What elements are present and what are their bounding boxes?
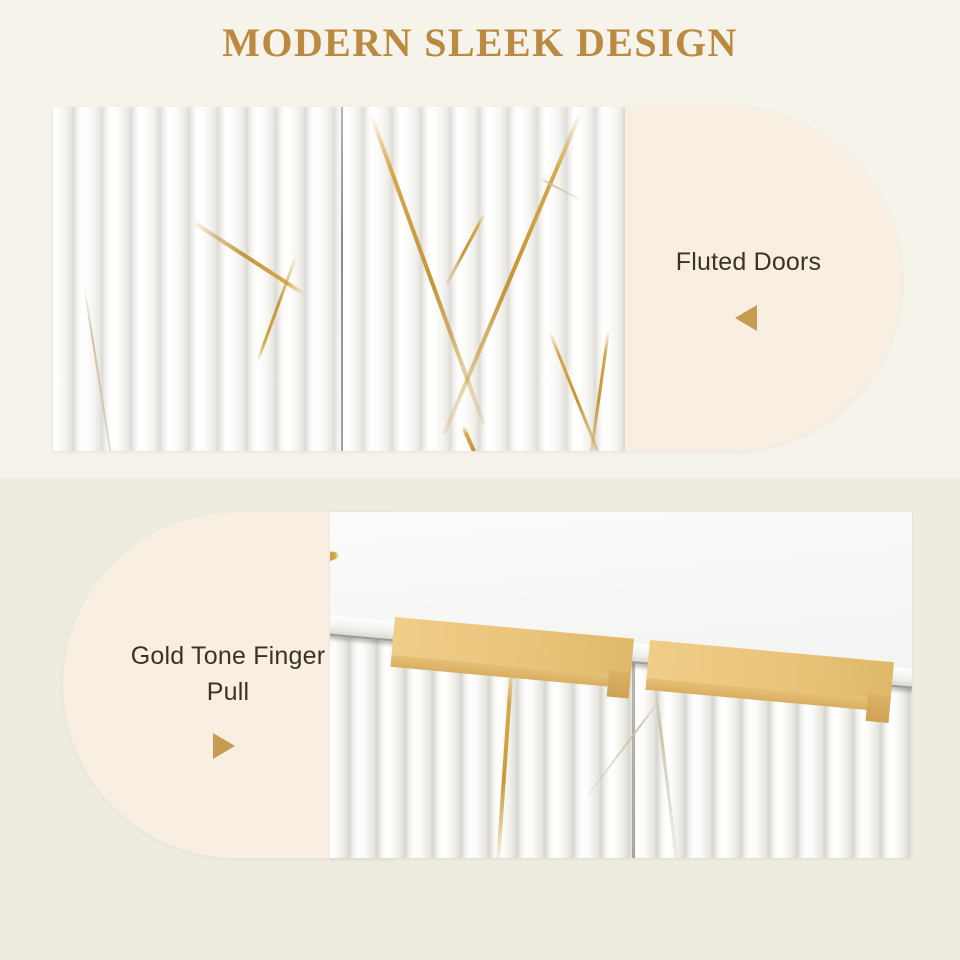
callout-label-line-2: Pull <box>207 678 250 706</box>
cabinet-door-left <box>53 107 341 451</box>
finger-pull-photo <box>330 512 912 858</box>
callout-label-line-1: Gold Tone Finger <box>131 642 326 670</box>
fluted-texture-right <box>343 107 625 451</box>
handle-end-cap-left <box>607 671 631 699</box>
marketing-image-canvas: MODERN SLEEK DESIGN Fluted Doors <box>0 0 960 960</box>
page-title: MODERN SLEEK DESIGN <box>0 21 960 65</box>
fluted-texture-left <box>53 107 341 451</box>
handle-end-cap-right <box>866 694 891 723</box>
triangle-right-icon <box>213 733 235 759</box>
cabinet-door-right <box>343 107 625 451</box>
callout-fluted-doors-label: Fluted Doors <box>625 247 872 277</box>
triangle-left-icon <box>735 305 757 331</box>
callout-gold-finger-pull-label: Gold Tone Finger Pull <box>85 638 371 710</box>
fluted-doors-photo <box>53 107 625 451</box>
